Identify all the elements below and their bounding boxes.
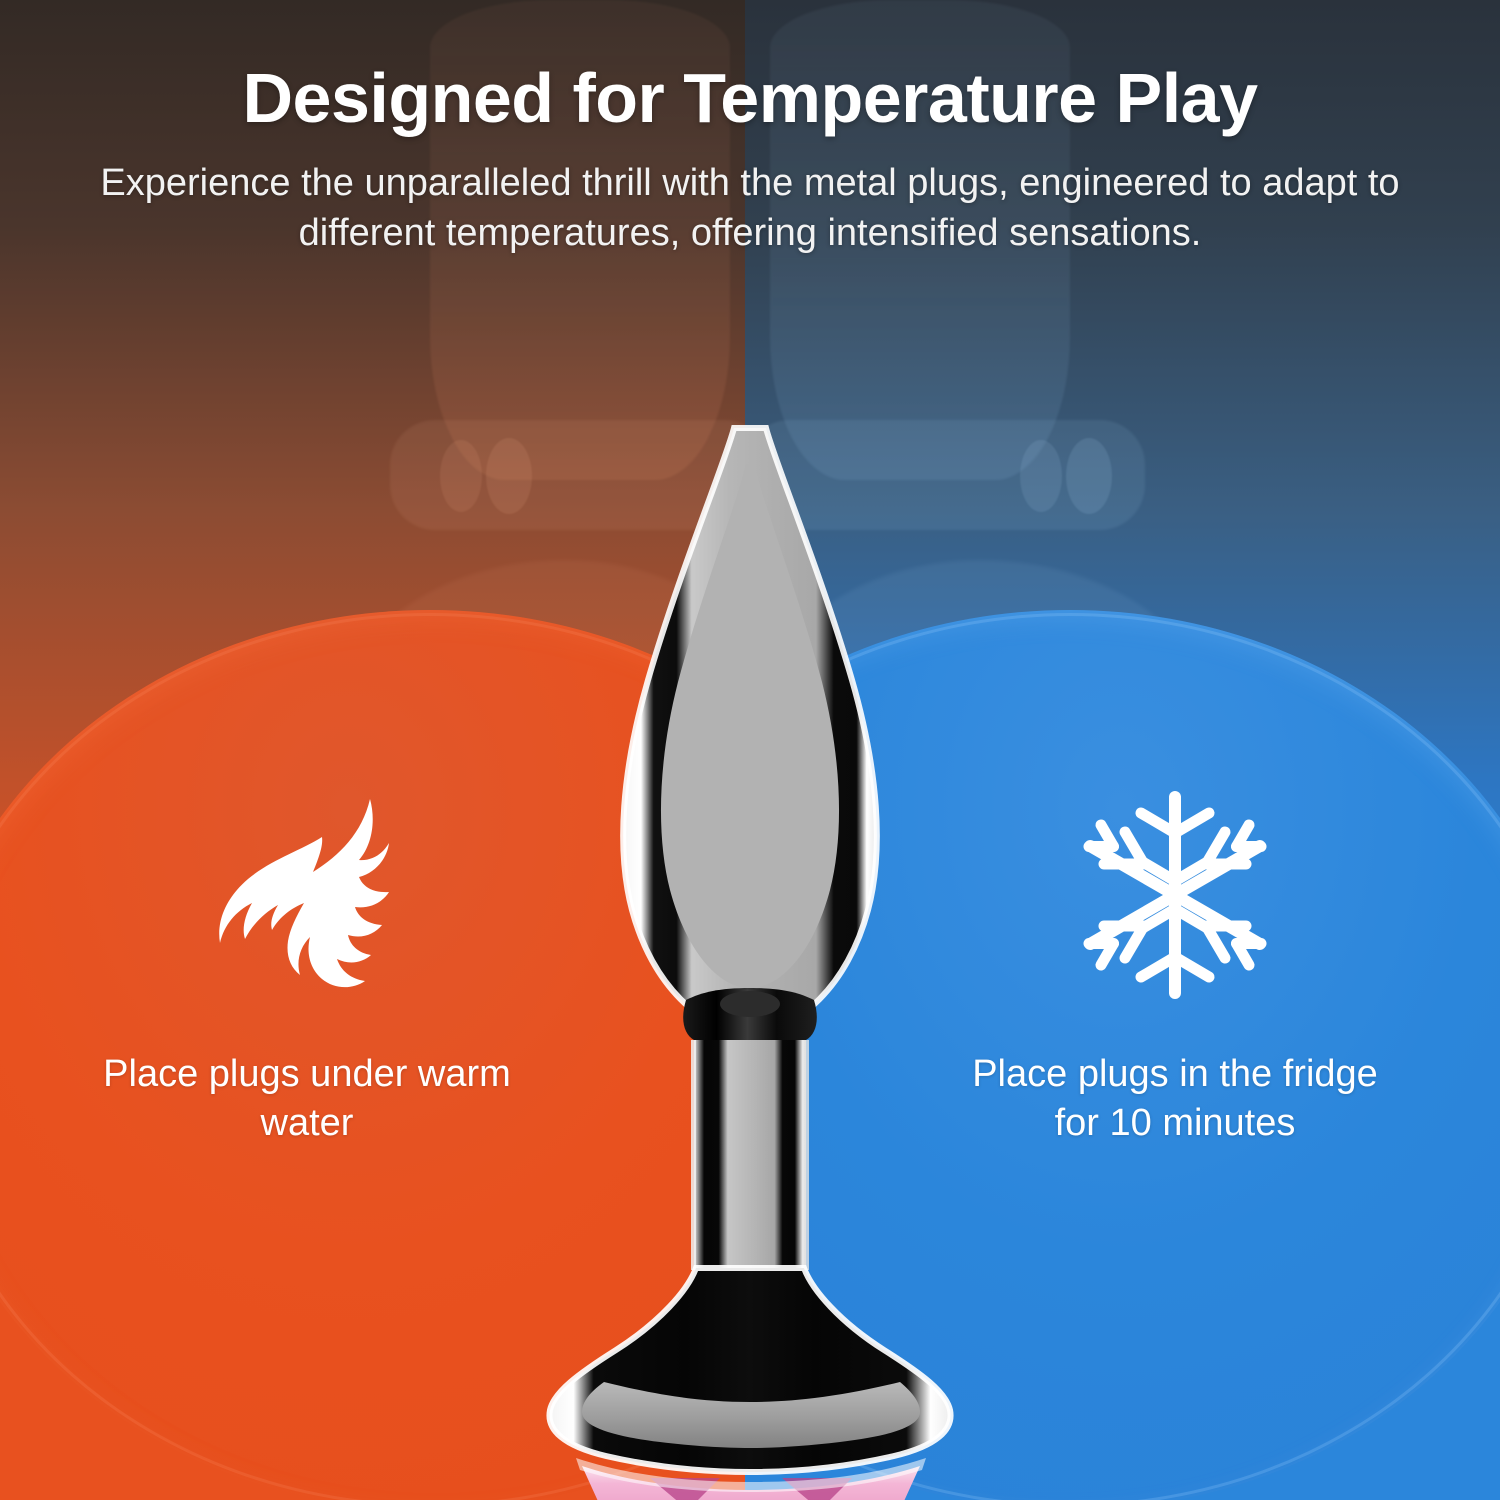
header: Designed for Temperature Play Experience… xyxy=(0,0,1500,258)
plug-collar-ring xyxy=(720,991,780,1017)
temperature-play-banner: Designed for Temperature Play Experience… xyxy=(0,0,1500,1500)
feature-warm-caption: Place plugs under warm water xyxy=(92,1050,522,1149)
flame-icon xyxy=(92,790,522,1000)
snowflake-icon xyxy=(960,790,1390,1000)
product-image-metal-plug xyxy=(520,420,980,1500)
plug-bulb-highlight xyxy=(661,464,839,988)
page-title: Designed for Temperature Play xyxy=(0,0,1500,136)
feature-cold: Place plugs in the fridge for 10 minutes xyxy=(960,790,1390,1149)
feature-cold-caption: Place plugs in the fridge for 10 minutes xyxy=(960,1050,1390,1149)
page-subtitle: Experience the unparalleled thrill with … xyxy=(0,158,1500,258)
plug-neck xyxy=(694,1040,806,1270)
feature-warm: Place plugs under warm water xyxy=(92,790,522,1149)
